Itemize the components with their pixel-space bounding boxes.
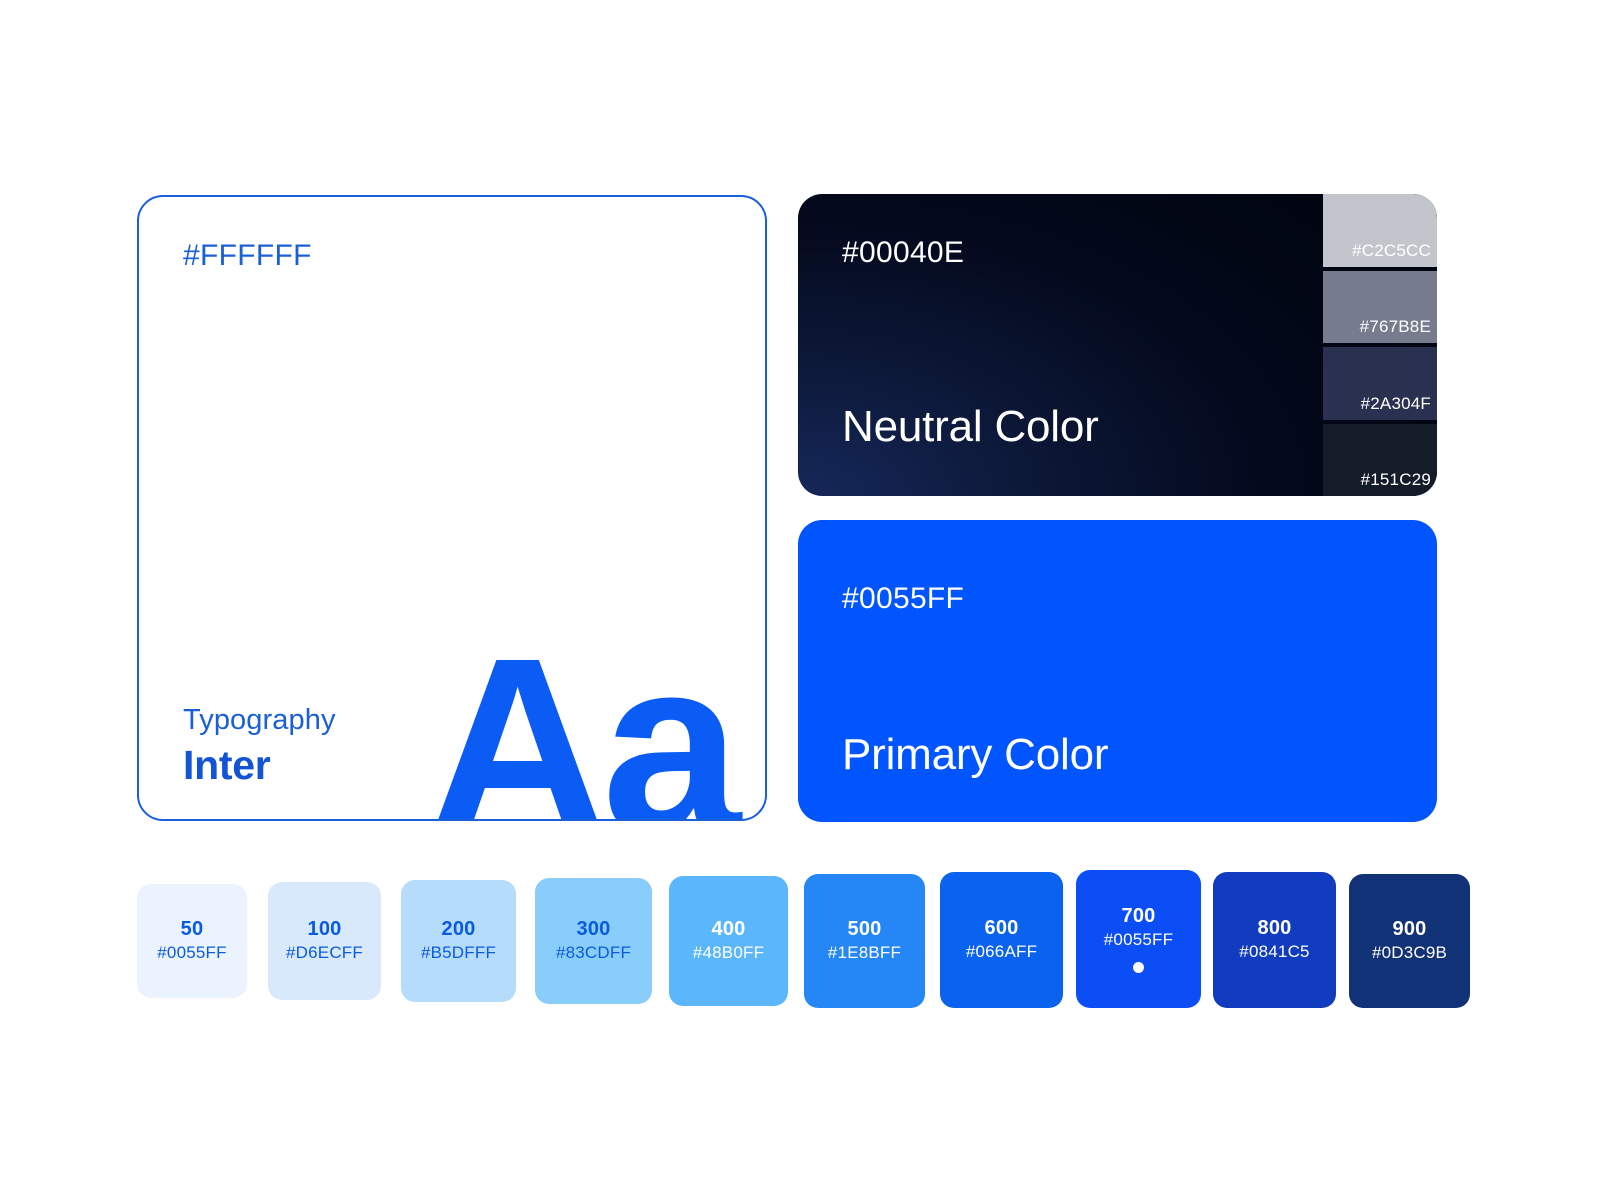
color-swatch-hex-label: #83CDFF <box>556 942 631 964</box>
color-swatch-hex-label: #48B0FF <box>693 942 764 964</box>
primary-card-hex-label: #0055FF <box>842 582 964 616</box>
typography-card-meta: Typography Inter <box>183 702 336 792</box>
color-swatch-400[interactable]: 400#48B0FF <box>669 876 788 1006</box>
color-swatch-hex-label: #0841C5 <box>1239 941 1309 963</box>
color-swatch-step-label: 300 <box>577 918 611 941</box>
neutral-strip-hex-label: #C2C5CC <box>1352 241 1431 261</box>
neutral-strip[interactable]: #C2C5CC <box>1323 194 1437 267</box>
neutral-strip-hex-label: #2A304F <box>1361 394 1431 414</box>
color-swatch-hex-label: #066AFF <box>966 941 1037 963</box>
color-swatch-step-label: 900 <box>1393 918 1427 941</box>
color-swatch-step-label: 50 <box>181 918 204 941</box>
neutral-strip-hex-label: #151C29 <box>1361 470 1431 490</box>
color-swatch-step-label: 200 <box>442 918 476 941</box>
neutral-shade-strips: #C2C5CC #767B8E #2A304F #151C29 <box>1323 194 1437 496</box>
typography-card-hex-label: #FFFFFF <box>183 239 312 273</box>
color-swatch-200[interactable]: 200#B5DFFF <box>401 880 516 1002</box>
color-swatch-step-label: 500 <box>848 918 882 941</box>
primary-color-card[interactable]: #0055FF Primary Color <box>798 520 1437 822</box>
neutral-strip[interactable]: #151C29 <box>1323 424 1437 497</box>
color-swatch-step-label: 600 <box>985 917 1019 940</box>
color-swatch-800[interactable]: 800#0841C5 <box>1213 872 1336 1008</box>
color-swatch-50[interactable]: 50#0055FF <box>137 884 247 998</box>
color-swatch-hex-label: #D6ECFF <box>286 942 363 964</box>
primary-card-title: Primary Color <box>842 730 1108 780</box>
typography-card[interactable]: #FFFFFF Typography Inter Aa <box>137 195 767 821</box>
neutral-strip[interactable]: #767B8E <box>1323 271 1437 344</box>
typography-specimen-aa: Aa <box>427 621 735 821</box>
color-swatch-500[interactable]: 500#1E8BFF <box>804 874 925 1008</box>
color-swatch-hex-label: #1E8BFF <box>828 942 901 964</box>
neutral-color-card[interactable]: #00040E Neutral Color #C2C5CC #767B8E #2… <box>798 194 1437 496</box>
color-swatch-900[interactable]: 900#0D3C9B <box>1349 874 1470 1008</box>
typography-card-font-family: Inter <box>183 740 336 791</box>
color-swatch-selected-indicator-dot <box>1133 962 1144 973</box>
style-guide-canvas: #FFFFFF Typography Inter Aa #00040E Neut… <box>0 0 1600 1200</box>
color-swatch-hex-label: #0D3C9B <box>1372 942 1447 964</box>
color-swatch-600[interactable]: 600#066AFF <box>940 872 1063 1008</box>
color-swatch-100[interactable]: 100#D6ECFF <box>268 882 381 1000</box>
color-swatch-hex-label: #B5DFFF <box>421 942 496 964</box>
neutral-strip[interactable]: #2A304F <box>1323 347 1437 420</box>
color-swatch-step-label: 800 <box>1258 917 1292 940</box>
color-swatch-hex-label: #0055FF <box>1104 929 1173 951</box>
color-swatch-step-label: 700 <box>1122 905 1156 928</box>
neutral-strip-hex-label: #767B8E <box>1360 317 1431 337</box>
neutral-card-title: Neutral Color <box>842 402 1099 452</box>
typography-card-label: Typography <box>183 702 336 738</box>
neutral-card-hex-label: #00040E <box>842 236 964 270</box>
color-swatch-700[interactable]: 700#0055FF <box>1076 870 1201 1008</box>
color-swatch-hex-label: #0055FF <box>157 942 226 964</box>
color-scale-row: 50#0055FF100#D6ECFF200#B5DFFF300#83CDFF4… <box>137 868 1437 1008</box>
color-swatch-step-label: 100 <box>308 918 342 941</box>
color-swatch-step-label: 400 <box>712 918 746 941</box>
color-swatch-300[interactable]: 300#83CDFF <box>535 878 652 1004</box>
